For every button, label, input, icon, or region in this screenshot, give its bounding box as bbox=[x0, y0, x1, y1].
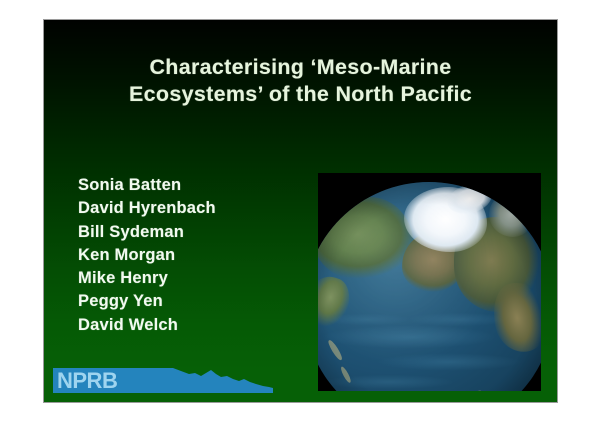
slide-title-line-2: Ecosystems’ of the North Pacific bbox=[44, 81, 557, 108]
north-pacific-globe-image bbox=[318, 173, 541, 391]
author-list: Sonia Batten David Hyrenbach Bill Sydema… bbox=[78, 174, 216, 337]
author-name: Ken Morgan bbox=[78, 244, 216, 267]
author-name: David Welch bbox=[78, 314, 216, 337]
globe-shading-overlay bbox=[318, 182, 541, 391]
author-name: Sonia Batten bbox=[78, 174, 216, 197]
presentation-slide: Characterising ‘Meso-Marine Ecosystems’ … bbox=[43, 19, 558, 403]
logo-mountain-silhouette bbox=[157, 368, 273, 393]
nprb-logo: NPRB bbox=[53, 366, 273, 396]
author-name: Bill Sydeman bbox=[78, 221, 216, 244]
author-name: David Hyrenbach bbox=[78, 197, 216, 220]
nprb-logo-text: NPRB bbox=[57, 368, 117, 393]
nprb-logo-graphic: NPRB bbox=[53, 366, 273, 396]
earth-sphere bbox=[318, 182, 541, 391]
author-name: Peggy Yen bbox=[78, 290, 216, 313]
author-name: Mike Henry bbox=[78, 267, 216, 290]
slide-title: Characterising ‘Meso-Marine Ecosystems’ … bbox=[44, 54, 557, 108]
slide-title-line-1: Characterising ‘Meso-Marine bbox=[44, 54, 557, 81]
